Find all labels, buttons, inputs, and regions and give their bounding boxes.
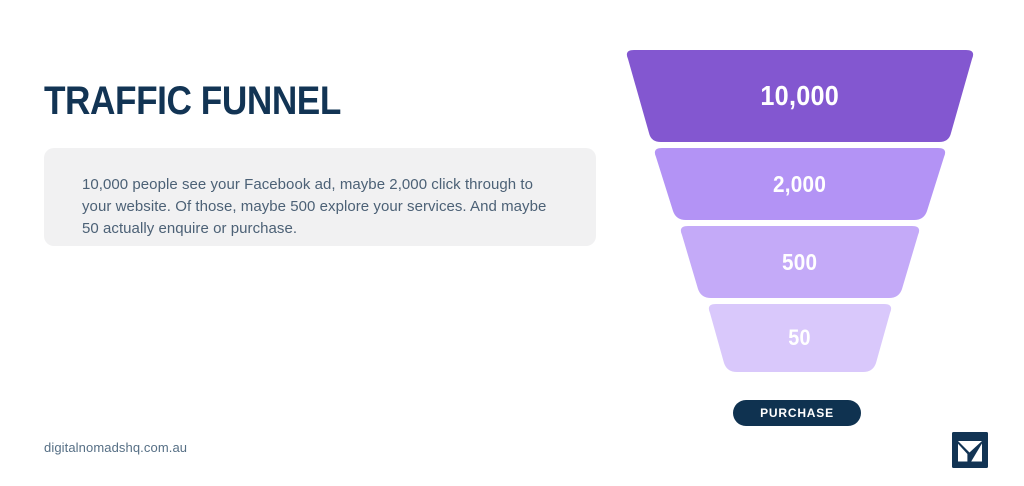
funnel-stage-3-value: 500 [782,249,817,276]
funnel-stage-1[interactable]: 10,000 [624,50,976,142]
description-card: 10,000 people see your Facebook ad, mayb… [44,148,596,246]
funnel-stage-2-value: 2,000 [773,171,826,198]
funnel-stage-4-value: 50 [789,325,812,351]
footer-website-url: digitalnomadshq.com.au [44,440,187,455]
purchase-button[interactable]: PURCHASE [733,400,861,426]
funnel-stage-3[interactable]: 500 [678,226,922,298]
funnel-stage-1-value: 10,000 [761,80,840,112]
slide-canvas: TRAFFIC FUNNEL 10,000 people see your Fa… [0,0,1024,486]
description-text: 10,000 people see your Facebook ad, mayb… [82,174,562,240]
traffic-funnel-chart: 10,000 2,000 500 50 PURCHASE [600,40,1000,440]
page-title: TRAFFIC FUNNEL [44,79,341,123]
funnel-stage-2[interactable]: 2,000 [652,148,948,220]
funnel-stage-4[interactable]: 50 [706,304,894,372]
